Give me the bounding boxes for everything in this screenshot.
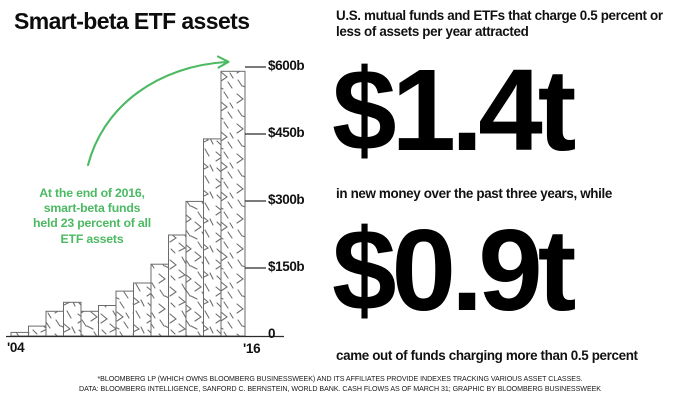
bar-chart-graphic [0, 0, 330, 368]
bar-2006 [46, 311, 64, 336]
y-tick-label-600b: $600b [268, 58, 304, 73]
annotation-line-1: At the end of 2016, [39, 186, 145, 200]
footnote: *BLOOMBERG LP (WHICH OWNS BLOOMBERG BUSI… [0, 374, 680, 395]
bar-2013 [169, 235, 187, 336]
stats-panel: U.S. mutual funds and ETFs that charge 0… [336, 0, 680, 368]
infographic-root: Smart-beta ETF assets [0, 0, 680, 410]
annotation-line-3: held 23 percent of all [33, 216, 151, 230]
bar-2015 [204, 139, 222, 336]
y-tick-label-150b: $150b [268, 259, 304, 274]
bar-2008 [81, 311, 99, 336]
bar-2005 [29, 326, 47, 336]
bar-2016 [221, 71, 245, 336]
bar-2010 [116, 291, 134, 336]
annotation-line-4: ETF assets [61, 232, 124, 246]
x-axis-label-start: '04 [7, 340, 24, 355]
bar-2004 [11, 332, 29, 336]
bar-2007 [64, 302, 82, 336]
footnote-line-2: DATA: BLOOMBERG INTELLIGENCE, SANFORD C.… [0, 384, 680, 394]
footnote-line-1: *BLOOMBERG LP (WHICH OWNS BLOOMBERG BUSI… [0, 374, 680, 384]
y-tick-label-300b: $300b [268, 192, 304, 207]
y-tick-label-450b: $450b [268, 125, 304, 140]
bar-2014 [186, 201, 204, 336]
annotation-line-2: smart-beta funds [44, 201, 141, 215]
lede-paragraph: U.S. mutual funds and ETFs that charge 0… [336, 8, 680, 41]
bar-2009 [99, 306, 117, 337]
y-axis-ticks [245, 67, 266, 268]
bar-2011 [134, 283, 152, 336]
bar-2012 [151, 264, 169, 336]
chart-panel: Smart-beta ETF assets [0, 0, 330, 368]
caption-inflow: in new money over the past three years, … [336, 186, 680, 201]
chart-annotation: At the end of 2016, smart-beta funds hel… [4, 186, 180, 247]
headline-stat-outflow: $0.9t [332, 212, 571, 328]
x-axis-label-end: '16 [243, 341, 260, 356]
y-tick-label-0: 0 [268, 326, 275, 341]
caption-outflow: came out of funds charging more than 0.5… [336, 348, 680, 363]
headline-stat-inflow: $1.4t [332, 52, 571, 168]
